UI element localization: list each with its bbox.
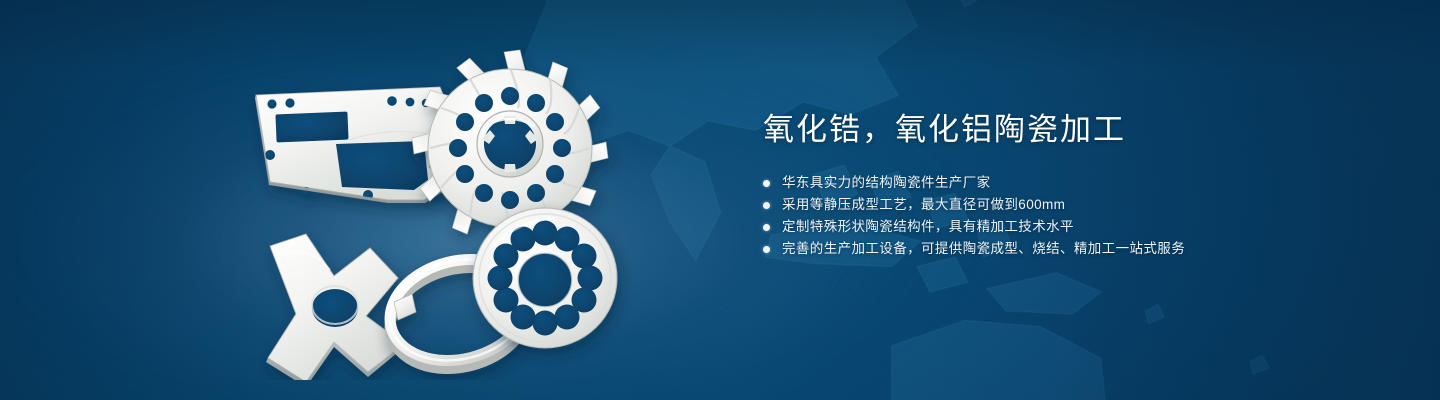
promo-banner: 氧化锆，氧化铝陶瓷加工 华东具实力的结构陶瓷件生产厂家 采用等静压成型工艺，最大… [0, 0, 1440, 400]
bullet-dot-icon [763, 180, 770, 187]
banner-copy: 氧化锆，氧化铝陶瓷加工 华东具实力的结构陶瓷件生产厂家 采用等静压成型工艺，最大… [763, 110, 1363, 260]
bullet-dot-icon [763, 246, 770, 253]
feature-text: 完善的生产加工设备，可提供陶瓷成型、烧结、精加工一站式服务 [782, 238, 1185, 260]
bullet-dot-icon [763, 224, 770, 231]
list-item: 华东具实力的结构陶瓷件生产厂家 [763, 172, 1363, 194]
feature-text: 定制特殊形状陶瓷结构件，具有精加工技术水平 [782, 216, 1074, 238]
ceramic-cross-plate [266, 234, 404, 380]
product-photo-cluster [228, 40, 728, 380]
bullet-dot-icon [763, 202, 770, 209]
feature-text: 采用等静压成型工艺，最大直径可做到600mm [782, 194, 1065, 216]
list-item: 定制特殊形状陶瓷结构件，具有精加工技术水平 [763, 216, 1363, 238]
page-title: 氧化锆，氧化铝陶瓷加工 [763, 110, 1363, 150]
feature-text: 华东具实力的结构陶瓷件生产厂家 [782, 172, 991, 194]
feature-list: 华东具实力的结构陶瓷件生产厂家 采用等静压成型工艺，最大直径可做到600mm 定… [763, 172, 1363, 260]
list-item: 采用等静压成型工艺，最大直径可做到600mm [763, 194, 1363, 216]
list-item: 完善的生产加工设备，可提供陶瓷成型、烧结、精加工一站式服务 [763, 238, 1363, 260]
ceramic-perforated-disc [473, 208, 617, 348]
